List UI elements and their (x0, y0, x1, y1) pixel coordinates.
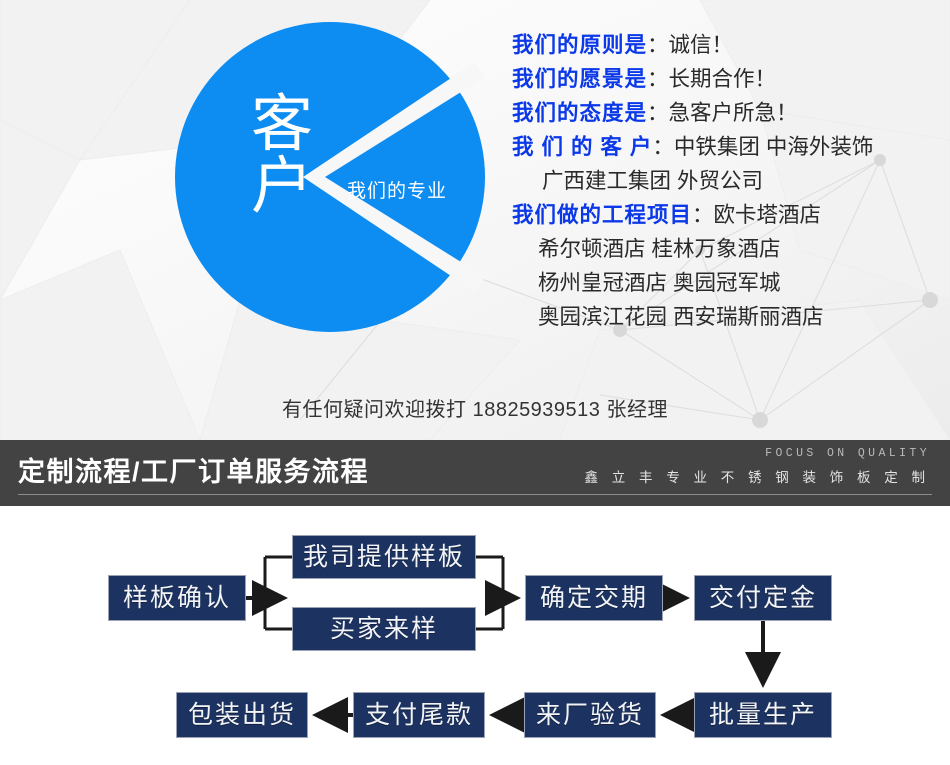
info-row: 我们的态度是：急客户所急！ (512, 96, 942, 130)
info-key: 我们的愿景是 (512, 67, 647, 91)
flow-node-factory-inspect[interactable]: 来厂验货 (524, 692, 656, 738)
company-info-list: 我们的原则是：诚信！ 我们的愿景是：长期合作！ 我们的态度是：急客户所急！ 我 … (512, 28, 942, 334)
flow-node-pay-deposit[interactable]: 交付定金 (694, 575, 832, 621)
flow-node-pay-balance[interactable]: 支付尾款 (353, 692, 485, 738)
info-sep: ： (647, 101, 669, 125)
banner-title: 定制流程/工厂订单服务流程 (18, 450, 369, 489)
info-row: 希尔顿酒店 桂林万象酒店 (512, 232, 942, 266)
info-row: 我们做的工程项目：欧卡塔酒店 (512, 198, 942, 232)
info-sep: ： (692, 203, 714, 227)
info-key: 我们的态度是 (512, 101, 647, 125)
flow-node-sample-confirm[interactable]: 样板确认 (108, 575, 246, 621)
info-value: 杨州皇冠酒店 奥园冠军城 (538, 271, 780, 295)
info-row: 杨州皇冠酒店 奥园冠军城 (512, 266, 942, 300)
info-value: 广西建工集团 外贸公司 (542, 169, 763, 193)
info-row: 奥园滨江花园 西安瑞斯丽酒店 (512, 300, 942, 334)
info-value: 诚信！ (669, 33, 734, 57)
circle-wedge-label: 我们的专业 (347, 182, 477, 203)
info-key: 我们的原则是 (512, 33, 647, 57)
info-value: 中铁集团 中海外装饰 (674, 135, 873, 159)
flow-node-buyer-sample[interactable]: 买家来样 (292, 607, 476, 651)
info-sep: ： (647, 67, 669, 91)
info-key: 我 们 的 客 户 (512, 135, 652, 159)
info-sep: ： (652, 135, 674, 159)
info-value: 急客户所急！ (669, 101, 798, 125)
contact-phone-line: 有任何疑问欢迎拨打 18825939513 张经理 (0, 393, 950, 422)
banner-underline (18, 494, 932, 495)
info-value: 欧卡塔酒店 (714, 203, 822, 227)
info-value: 奥园滨江花园 西安瑞斯丽酒店 (538, 305, 823, 329)
hero-section: 客户 我们的专业 我们的原则是：诚信！ 我们的愿景是：长期合作！ 我们的态度是：… (0, 0, 950, 440)
banner-slogan: 鑫 立 丰 专 业 不 锈 钢 装 饰 板 定 制 (584, 466, 930, 486)
info-sep: ： (647, 33, 669, 57)
section-banner: 定制流程/工厂订单服务流程 FOCUS ON QUALITY 鑫 立 丰 专 业… (0, 440, 950, 506)
process-flowchart: 样板确认 我司提供样板 买家来样 确定交期 交付定金 批量生产 来厂验货 支付尾… (0, 506, 950, 765)
flow-node-we-provide-sample[interactable]: 我司提供样板 (292, 535, 476, 579)
info-value: 长期合作！ (669, 67, 777, 91)
info-row: 我们的原则是：诚信！ (512, 28, 942, 62)
customer-circle-graphic: 客户 我们的专业 (175, 22, 485, 332)
circle-main-label: 客户 (223, 94, 343, 218)
poster-canvas: 客户 我们的专业 我们的原则是：诚信！ 我们的愿景是：长期合作！ 我们的态度是：… (0, 0, 950, 765)
flow-node-pack-ship[interactable]: 包装出货 (176, 692, 308, 738)
info-row: 我 们 的 客 户：中铁集团 中海外装饰 (512, 130, 942, 164)
flow-node-mass-production[interactable]: 批量生产 (694, 692, 832, 738)
info-key: 我们做的工程项目 (512, 203, 692, 227)
flow-node-confirm-delivery[interactable]: 确定交期 (525, 575, 663, 621)
banner-focus-tagline: FOCUS ON QUALITY (765, 447, 930, 460)
info-row: 广西建工集团 外贸公司 (512, 164, 942, 198)
info-value: 希尔顿酒店 桂林万象酒店 (538, 237, 780, 261)
info-row: 我们的愿景是：长期合作！ (512, 62, 942, 96)
